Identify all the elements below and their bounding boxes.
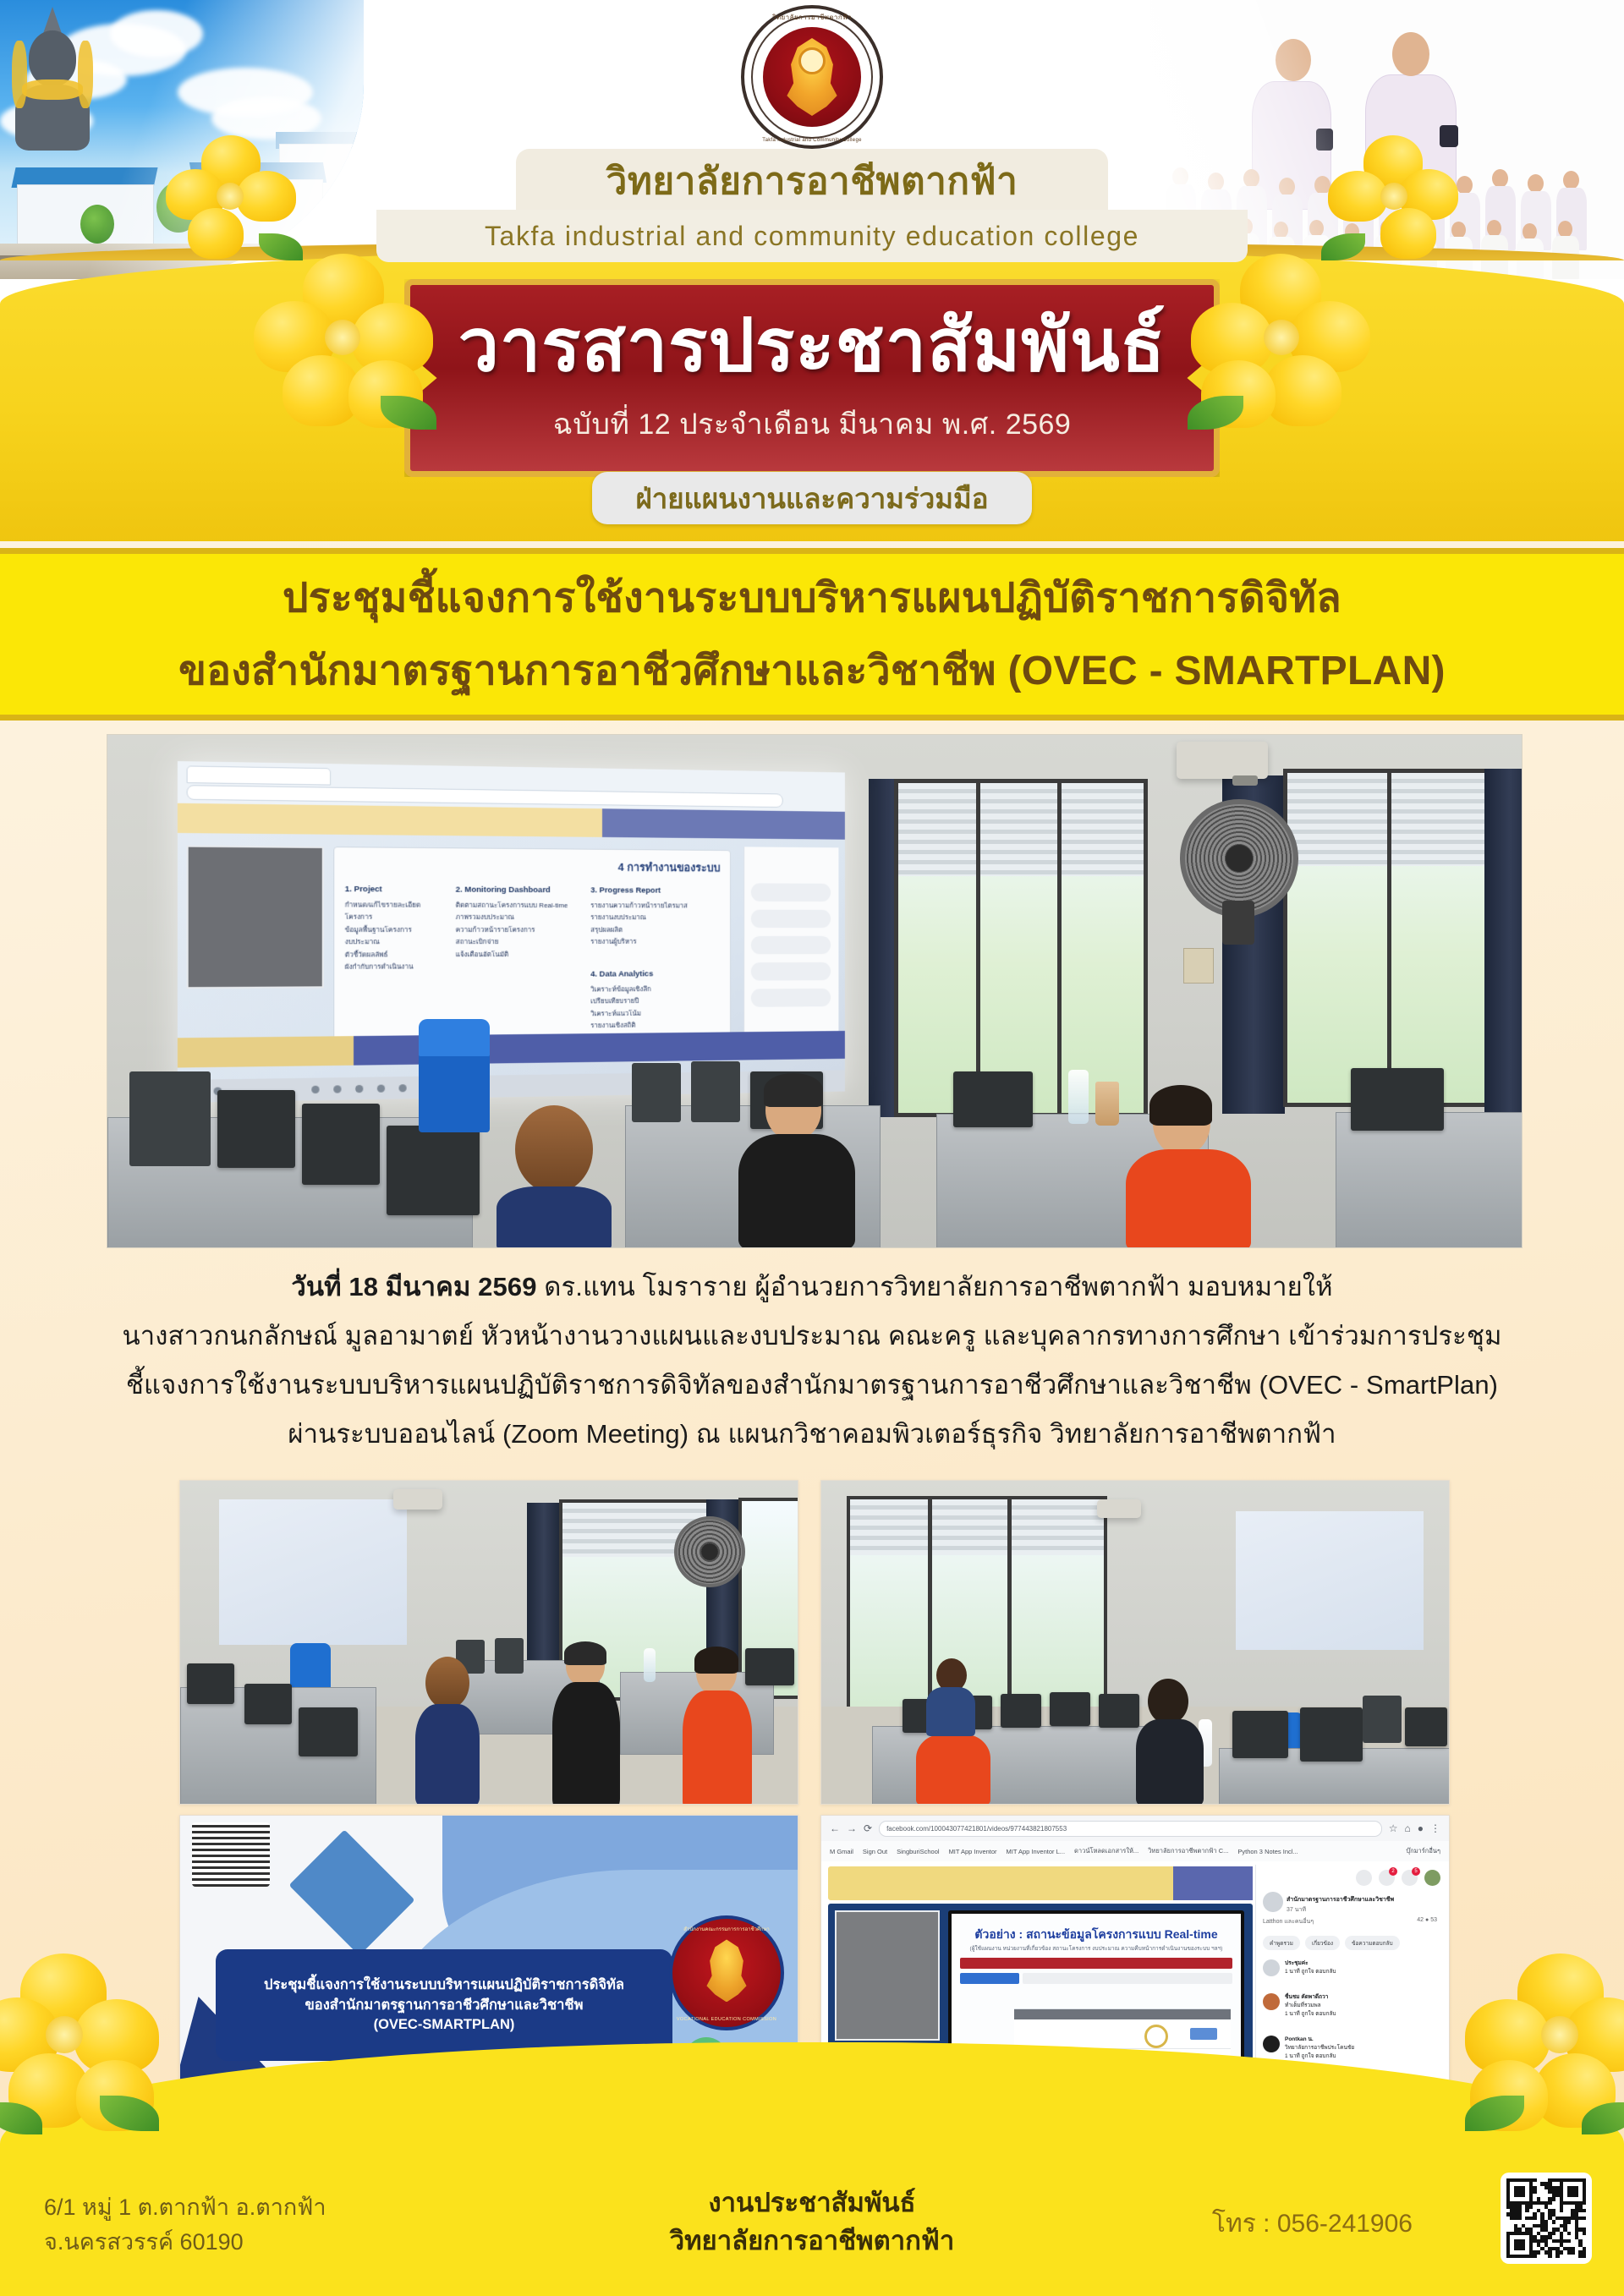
post-time: 37 นาที (1287, 1905, 1306, 1915)
grid-photo-2 (820, 1480, 1450, 1805)
menu-icon[interactable]: ⋮ (1430, 1822, 1440, 1834)
wall-fan-icon (1180, 799, 1298, 918)
slide-heading: 4 การทำงานของระบบ (618, 858, 721, 877)
grid-menu-icon[interactable] (1356, 1870, 1372, 1886)
wall-fan-icon (674, 1516, 745, 1587)
computer-desk (872, 1726, 1144, 1805)
comment-text: ประชุมค่ะ1 นาที ถูกใจ ตอบกลับ (1285, 1959, 1336, 1976)
window-curtain (1484, 769, 1522, 1115)
poster-title-line-2: ของสำนักมาตรฐานการอาชีวศึกษาและวิชาชีพ (305, 1997, 584, 2014)
attendee-person (490, 1105, 617, 1247)
facebook-banner-blue (1173, 1866, 1253, 1900)
ceiling-projector (393, 1489, 442, 1510)
article-line-3: ชี้แจงการใช้งานระบบบริหารแผนปฏิบัติราชกา… (51, 1367, 1573, 1404)
slide-column-2: 2. Monitoring Dashboard ติดตามสถานะโครงก… (456, 883, 574, 962)
qr-code[interactable] (1501, 2173, 1592, 2264)
classroom-window (894, 779, 1148, 1117)
monitor (1300, 1707, 1363, 1762)
messenger-icon[interactable]: 2 (1379, 1870, 1395, 1886)
monitor (187, 1663, 234, 1704)
classroom-window (1283, 769, 1503, 1107)
department-label: ฝ่ายแผนงานและความร่วมมือ (635, 476, 988, 521)
address-line-2: จ.นครสวรรค์ 60190 (44, 2225, 326, 2260)
footer-address: 6/1 หมู่ 1 ต.ตากฟ้า อ.ตากฟ้า จ.นครสวรรค์… (44, 2190, 326, 2259)
browser-toolbar: ← → ⟳ facebook.com/100043077421801/video… (821, 1816, 1449, 1842)
water-bottle (1068, 1070, 1089, 1124)
bookmark-star-icon[interactable]: ☆ (1389, 1822, 1398, 1834)
projected-screen (1236, 1511, 1424, 1650)
notifications-icon[interactable]: 5 (1402, 1870, 1418, 1886)
seal-text-en: VOCATIONAL EDUCATION COMMISSION (672, 2017, 781, 2022)
headline-bar: ประชุมชี้แจงการใช้งานระบบบริหารแผนปฏิบัต… (0, 548, 1624, 721)
meeting-illustration (288, 1829, 414, 1955)
grid-photo-1 (179, 1480, 798, 1805)
attendee-person (733, 1080, 860, 1247)
college-name-en: Takfa industrial and community education… (485, 221, 1139, 252)
window-louver (1287, 773, 1499, 866)
newsletter-page: วิทยาลัยการอาชีพตากฟ้า Takfa industrial … (0, 0, 1624, 2296)
monitor (1351, 1068, 1444, 1131)
poster-title-line-1: ประชุมชี้แจงการใช้งานระบบบริหารแผนปฏิบัต… (264, 1976, 624, 1994)
poster-title-line-3: (OVEC-SMARTPLAN) (374, 2016, 515, 2034)
headline-line-1: ประชุมชี้แจงการใช้งานระบบบริหารแผนปฏิบัต… (283, 566, 1341, 630)
comment-item: ชื่นชม คัดพาดีถวาทำเต็มที่รวมพล1 นาที ถู… (1263, 1993, 1439, 2029)
college-name-th: วิทยาลัยการอาชีพตากฟ้า (606, 151, 1018, 211)
reload-icon[interactable]: ⟳ (864, 1822, 872, 1834)
avatar (1263, 2036, 1280, 2052)
back-icon[interactable]: ← (830, 1822, 840, 1834)
collage-fade-overlay (0, 0, 364, 279)
iced-drink-cup (1095, 1082, 1119, 1126)
article-body: วันที่ 18 มีนาคม 2569 ดร.แทน โมราราย ผู้… (51, 1269, 1573, 1465)
footer-org: งานประชาสัมพันธ์ วิทยาลัยการอาชีพตากฟ้า (670, 2184, 955, 2260)
bookmark-item[interactable]: Python 3 Notes Incl... (1237, 1848, 1298, 1855)
presenter-video-tile (187, 846, 324, 989)
monitor (302, 1104, 380, 1185)
college-name-plaque-th: วิทยาลัยการอาชีพตากฟ้า (516, 149, 1108, 213)
article-line-1: วันที่ 18 มีนาคม 2569 ดร.แทน โมราราย ผู้… (51, 1269, 1573, 1306)
seal-text-en: Takfa Industrial and Community College (741, 138, 883, 143)
extensions-icon[interactable]: ⌂ (1405, 1822, 1411, 1834)
attendee-person (1121, 1090, 1256, 1247)
profile-icon[interactable]: ● (1418, 1822, 1424, 1834)
table-header-row (1014, 2009, 1231, 2019)
attendee-person (681, 1650, 754, 1805)
newsletter-ribbon: วารสารประชาสัมพันธ์ ฉบับที่ 12 ประจำเดือ… (404, 279, 1220, 477)
bookmark-item[interactable]: วิทยาลัยการอาชีพตากฟ้า C... (1148, 1846, 1228, 1856)
monitor (1050, 1692, 1090, 1726)
ovec-seal-logo: สำนักงานคณะกรรมการการอาชีวศึกษา VOCATION… (669, 1915, 784, 2030)
slide-title: ตัวอย่าง : สถานะข้อมูลโครงการแบบ Real-ti… (952, 1926, 1241, 1944)
monitor (1001, 1694, 1041, 1728)
seal-text-th: สำนักงานคณะกรรมการการอาชีวศึกษา (672, 1925, 781, 1933)
comment-text: Pontkan น.วิทยาลัยการอาชีพประโคนชัย1 นาท… (1285, 2036, 1354, 2061)
article-line-2: นางสาวกนกลักษณ์ มูลอามาตย์ หัวหน้างานวาง… (51, 1318, 1573, 1355)
desktop-tower (495, 1638, 524, 1674)
ceiling-projector (1097, 1499, 1141, 1518)
article-line-4: ผ่านระบบออนไลน์ (Zoom Meeting) ณ แผนกวิช… (51, 1416, 1573, 1453)
facebook-sidebar-banner (602, 808, 845, 840)
desktop-tower (129, 1071, 211, 1166)
projected-screen: 4 การทำงานของระบบ 1. Project กำหนด/แก้ไข… (178, 761, 845, 1103)
footer-telephone: โทร : 056-241906 (1212, 2204, 1413, 2244)
facebook-page-banner (178, 803, 602, 837)
fan-mount (1222, 901, 1254, 945)
filter-chip[interactable]: ข้อความตอบกลับ (1345, 1936, 1400, 1950)
avatar[interactable] (1424, 1870, 1440, 1886)
headline-line-2: ของสำนักมาตรฐานการอาชีวศึกษาและวิชาชีพ (… (178, 638, 1446, 703)
page-name: สำนักมาตรฐานการอาชีวศึกษาและวิชาชีพ (1287, 1895, 1394, 1904)
bookmark-item[interactable]: M Gmail (830, 1848, 853, 1855)
filter-chip[interactable]: คำพูดรวม (1263, 1936, 1300, 1950)
filter-chip[interactable]: เกี่ยวข้อง (1305, 1936, 1340, 1950)
bookmark-item[interactable]: SingburiSchool (897, 1848, 939, 1855)
address-line-1: 6/1 หมู่ 1 ต.ตากฟ้า อ.ตากฟ้า (44, 2190, 326, 2225)
page-avatar (1263, 1892, 1283, 1912)
avatar (1263, 1993, 1280, 2010)
bookmarks-bar: M Gmail Sign Out SingburiSchool MIT App … (821, 1841, 1449, 1862)
avatar (1263, 1959, 1280, 1976)
reactions-label: Latthon และคนอื่นๆ (1263, 1917, 1314, 1926)
monitor (1405, 1707, 1447, 1746)
presenter-video-tile (835, 1910, 940, 2041)
classroom-window (847, 1496, 1107, 1721)
article-line-1-rest: ดร.แทน โมราราย ผู้อำนวยการวิทยาลัยการอาช… (537, 1272, 1333, 1301)
ceiling-projector (1177, 742, 1268, 779)
other-bookmarks[interactable]: บุ๊กมาร์กอื่นๆ (1406, 1846, 1440, 1856)
comment-text: ชื่นชม คัดพาดีถวาทำเต็มที่รวมพล1 นาที ถู… (1285, 1993, 1336, 2019)
address-bar[interactable]: facebook.com/100043077421801/videos/9774… (879, 1821, 1382, 1837)
photo-grid: ประชุมชี้แจงการใช้งานระบบบริหารแผนปฏิบัต… (179, 1480, 1448, 2131)
article-date: วันที่ 18 มีนาคม 2569 (291, 1272, 536, 1301)
monitor (244, 1684, 292, 1724)
bookmark-item[interactable]: MIT App Inventor (949, 1848, 997, 1855)
dharma-wheel-icon (798, 47, 826, 74)
attendee-person (1134, 1679, 1205, 1804)
wall-switch-plate (1183, 948, 1214, 984)
bookmark-item[interactable]: MIT App Inventor L... (1007, 1848, 1065, 1855)
monitor (299, 1707, 358, 1756)
monitor (953, 1071, 1033, 1127)
facebook-nav-icons: 2 5 (1356, 1870, 1440, 1886)
college-seal-logo: วิทยาลัยการอาชีพตากฟ้า Takfa Industrial … (741, 5, 883, 149)
poster-stripe-pattern (192, 1822, 270, 1887)
seal-core (763, 27, 861, 127)
browser-tab (187, 765, 332, 785)
bookmark-item[interactable]: Sign Out (863, 1848, 887, 1855)
main-event-photo: 4 การทำงานของระบบ 1. Project กำหนด/แก้ไข… (107, 734, 1522, 1248)
footer-org-line-1: งานประชาสัมพันธ์ (670, 2184, 955, 2222)
monitor (1232, 1711, 1288, 1758)
department-badge: ฝ่ายแผนงานและความร่วมมือ (592, 472, 1032, 524)
slide-header-bar (960, 1958, 1232, 1969)
forward-icon[interactable]: → (847, 1822, 857, 1834)
projected-screen (219, 1499, 407, 1645)
comment-item: ประชุมค่ะ1 นาที ถูกใจ ตอบกลับ (1263, 1959, 1439, 1988)
presentation-slide: 4 การทำงานของระบบ 1. Project กำหนด/แก้ไข… (333, 847, 731, 1064)
seal-text-th: วิทยาลัยการอาชีพตากฟ้า (741, 12, 883, 23)
chair-backrest (419, 1019, 490, 1056)
status-ring-icon (1144, 2025, 1168, 2048)
slide-tab-active (960, 1973, 1019, 1984)
projector-lens (1232, 775, 1258, 786)
window-louver (898, 783, 1144, 876)
address-bar-url: facebook.com/100043077421801/videos/9774… (886, 1825, 1067, 1833)
seal-ornament (700, 1939, 753, 2002)
reaction-counts: 42 ● 53 (1417, 1917, 1437, 1923)
bookmark-item[interactable]: ดาวน์โหลดเอกสารให้... (1074, 1846, 1138, 1856)
qr-code-pattern (1506, 2178, 1586, 2258)
desktop-tower (1363, 1696, 1402, 1743)
fan-hub (1226, 845, 1253, 872)
newsletter-issue: ฉบับที่ 12 ประจำเดือน มีนาคม พ.ศ. 2569 (553, 401, 1072, 447)
comment-filter-chips: คำพูดรวม เกี่ยวข้อง ข้อความตอบกลับ (1263, 1936, 1439, 1950)
campus-collage-photo (0, 0, 364, 279)
water-bottle (644, 1648, 656, 1682)
footer-org-line-2: วิทยาลัยการอาชีพตากฟ้า (670, 2222, 955, 2260)
desktop-tower (632, 1063, 681, 1122)
slide-column-3: 3. Progress Report รายงานความก้าวหน้าราย… (590, 883, 705, 948)
attendee-person (551, 1645, 622, 1805)
slide-subtitle: (ผู้ใช้แผนงาน หน่วยงานที่เกี่ยวข้อง สถาน… (952, 1944, 1241, 1953)
table-action-button[interactable] (1190, 2028, 1217, 2040)
monitor (217, 1090, 295, 1168)
monitor (387, 1126, 480, 1215)
monitor (1099, 1694, 1139, 1728)
computer-desk (1336, 1112, 1522, 1248)
slide-column-1: 1. Project กำหนด/แก้ไขรายละเอียดโครงการ … (345, 882, 441, 973)
slide-field-row (1023, 1973, 1232, 1984)
college-name-plaque-en: Takfa industrial and community education… (376, 210, 1248, 262)
newsletter-title: วารสารประชาสัมพันธ์ (458, 310, 1166, 382)
attendee-person (414, 1657, 481, 1804)
attendee-person (926, 1658, 977, 1734)
facebook-comments-panel (743, 847, 838, 1044)
